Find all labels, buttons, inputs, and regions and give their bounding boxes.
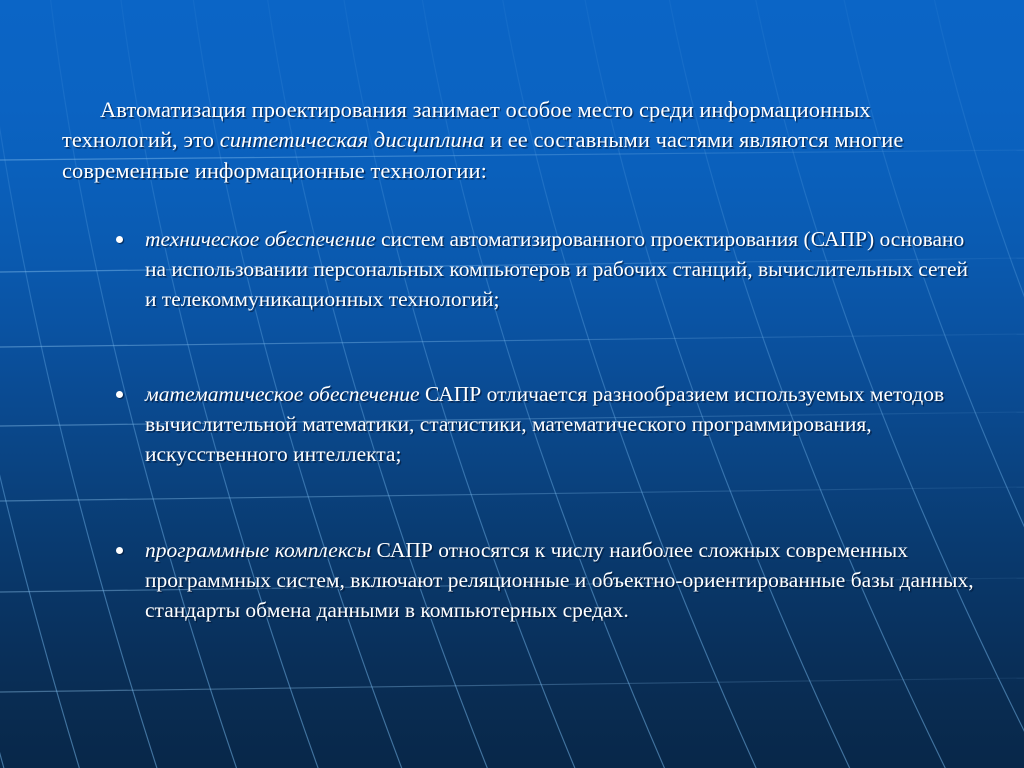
list-item: программные комплексы САПР относятся к ч…	[112, 535, 974, 626]
bullet-emphasis: техническое обеспечение	[145, 227, 376, 251]
list-item: математическое обеспечение САПР отличает…	[112, 379, 974, 470]
lead-emphasis: синтетическая дисциплина	[220, 127, 485, 152]
presentation-slide: Автоматизация проектирования занимает ос…	[0, 0, 1024, 768]
list-item: техническое обеспечение систем автоматиз…	[112, 224, 974, 315]
bullet-emphasis: программные комплексы	[145, 538, 371, 562]
slide-content: Автоматизация проектирования занимает ос…	[0, 0, 1024, 768]
bullet-emphasis: математическое обеспечение	[145, 382, 420, 406]
lead-paragraph: Автоматизация проектирования занимает ос…	[62, 95, 972, 187]
